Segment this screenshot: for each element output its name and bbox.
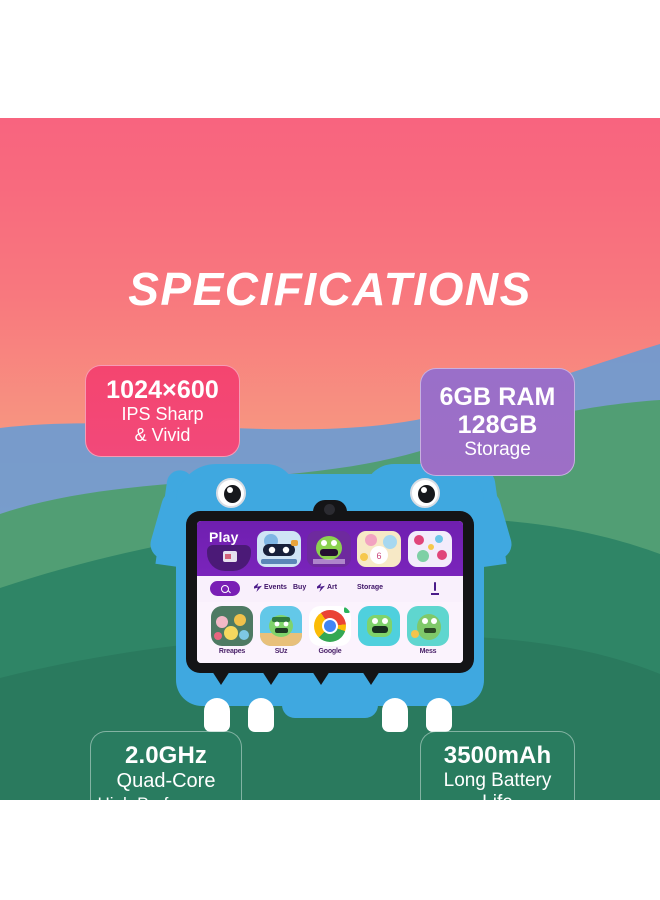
screen-app-row: Rreapes xyxy=(197,602,463,663)
confetti-game-artwork xyxy=(408,531,452,567)
app-icon-google-chrome[interactable]: Google xyxy=(309,606,351,655)
sparkle-icon xyxy=(254,583,262,592)
nav-item-events[interactable]: Events xyxy=(264,584,287,591)
screen-nav-row: Events Buy Art Storage xyxy=(197,576,463,602)
product-spec-page: SPECIFICATIONS Play xyxy=(0,0,660,900)
play-store-glyph-icon xyxy=(223,551,237,562)
spec-value: 1024×600 xyxy=(106,376,219,404)
app-label: Rreapes xyxy=(211,648,253,655)
banner-app-tile[interactable] xyxy=(307,531,351,567)
garden-game-icon xyxy=(211,606,253,646)
spec-value: 3500mAh xyxy=(444,743,551,770)
spec-sub: Quad-Core xyxy=(117,770,216,794)
spec-value: 6GB RAM xyxy=(440,383,556,411)
banner-app-tile[interactable] xyxy=(408,531,452,567)
eye-glint xyxy=(421,487,427,493)
search-button[interactable] xyxy=(210,581,240,596)
spec-card-battery: 3500mAh Long Battery Life xyxy=(420,731,575,800)
case-bottom-notch xyxy=(282,692,378,718)
monster-foot xyxy=(248,698,274,732)
spec-sub: Long Battery xyxy=(444,770,552,792)
app-icon-dragon[interactable]: Mess xyxy=(407,606,449,655)
monster-eye-left-icon xyxy=(216,478,246,508)
party-game-artwork: 6 xyxy=(357,531,401,567)
app-label: Mess xyxy=(407,648,449,655)
spec-card-memory: 6GB RAM 128GB Storage xyxy=(420,368,575,476)
app-icon-garden[interactable]: Rreapes xyxy=(211,606,253,655)
spec-sub2: Storage xyxy=(464,439,531,461)
artwork-panel: SPECIFICATIONS Play xyxy=(0,118,660,800)
app-icon-monster[interactable] xyxy=(358,606,400,648)
app-label: Google xyxy=(309,648,351,655)
magnifier-icon xyxy=(221,585,229,593)
monster-eye-right-icon xyxy=(410,478,440,508)
exclamation-icon[interactable] xyxy=(434,582,436,591)
nav-item-art[interactable]: Art xyxy=(327,584,337,591)
nav-item-storage[interactable]: Storage xyxy=(357,584,383,591)
front-camera-icon xyxy=(324,504,335,515)
dino-game-icon xyxy=(260,606,302,646)
play-store-tile[interactable] xyxy=(207,545,251,571)
tablet-illustration: Play xyxy=(148,456,512,738)
brush-icon xyxy=(317,583,325,592)
spec-value: 2.0GHz xyxy=(125,743,207,770)
case-tooth xyxy=(310,668,332,685)
monster-game-artwork xyxy=(307,531,351,567)
case-tooth xyxy=(260,668,282,685)
monster-foot xyxy=(382,698,408,732)
play-banner-label: Play xyxy=(209,529,239,545)
chrome-icon xyxy=(309,606,351,646)
spec-sub: IPS Sharp xyxy=(121,404,203,425)
banner-app-tile[interactable]: 6 xyxy=(357,531,401,567)
spec-card-processor: 2.0GHz Quad-Core High Performance xyxy=(90,731,242,800)
app-label: SUz xyxy=(260,648,302,655)
spec-sub2: Life xyxy=(482,792,513,800)
page-title: SPECIFICATIONS xyxy=(0,266,660,312)
spec-sub2: & Vivid xyxy=(135,425,191,446)
dragon-game-icon xyxy=(407,606,449,646)
spec-sub: 128GB xyxy=(458,411,538,439)
notification-badge xyxy=(344,607,350,613)
play-banner: Play xyxy=(197,521,463,576)
monster-foot xyxy=(204,698,230,732)
spec-card-display: 1024×600 IPS Sharp & Vivid xyxy=(85,365,240,457)
eye-glint xyxy=(227,487,233,493)
monster-app-icon xyxy=(358,606,400,646)
tablet-screen[interactable]: Play xyxy=(197,521,463,663)
spec-sub2: High Performance xyxy=(97,794,234,800)
banner-app-tile[interactable] xyxy=(257,531,301,567)
svg-text:6: 6 xyxy=(376,551,381,561)
app-icon-dino[interactable]: SUz xyxy=(260,606,302,655)
robot-app-artwork xyxy=(257,531,301,567)
case-tooth xyxy=(360,668,382,685)
case-tooth xyxy=(210,668,232,685)
monster-foot xyxy=(426,698,452,732)
nav-item-buy[interactable]: Buy xyxy=(293,584,306,591)
